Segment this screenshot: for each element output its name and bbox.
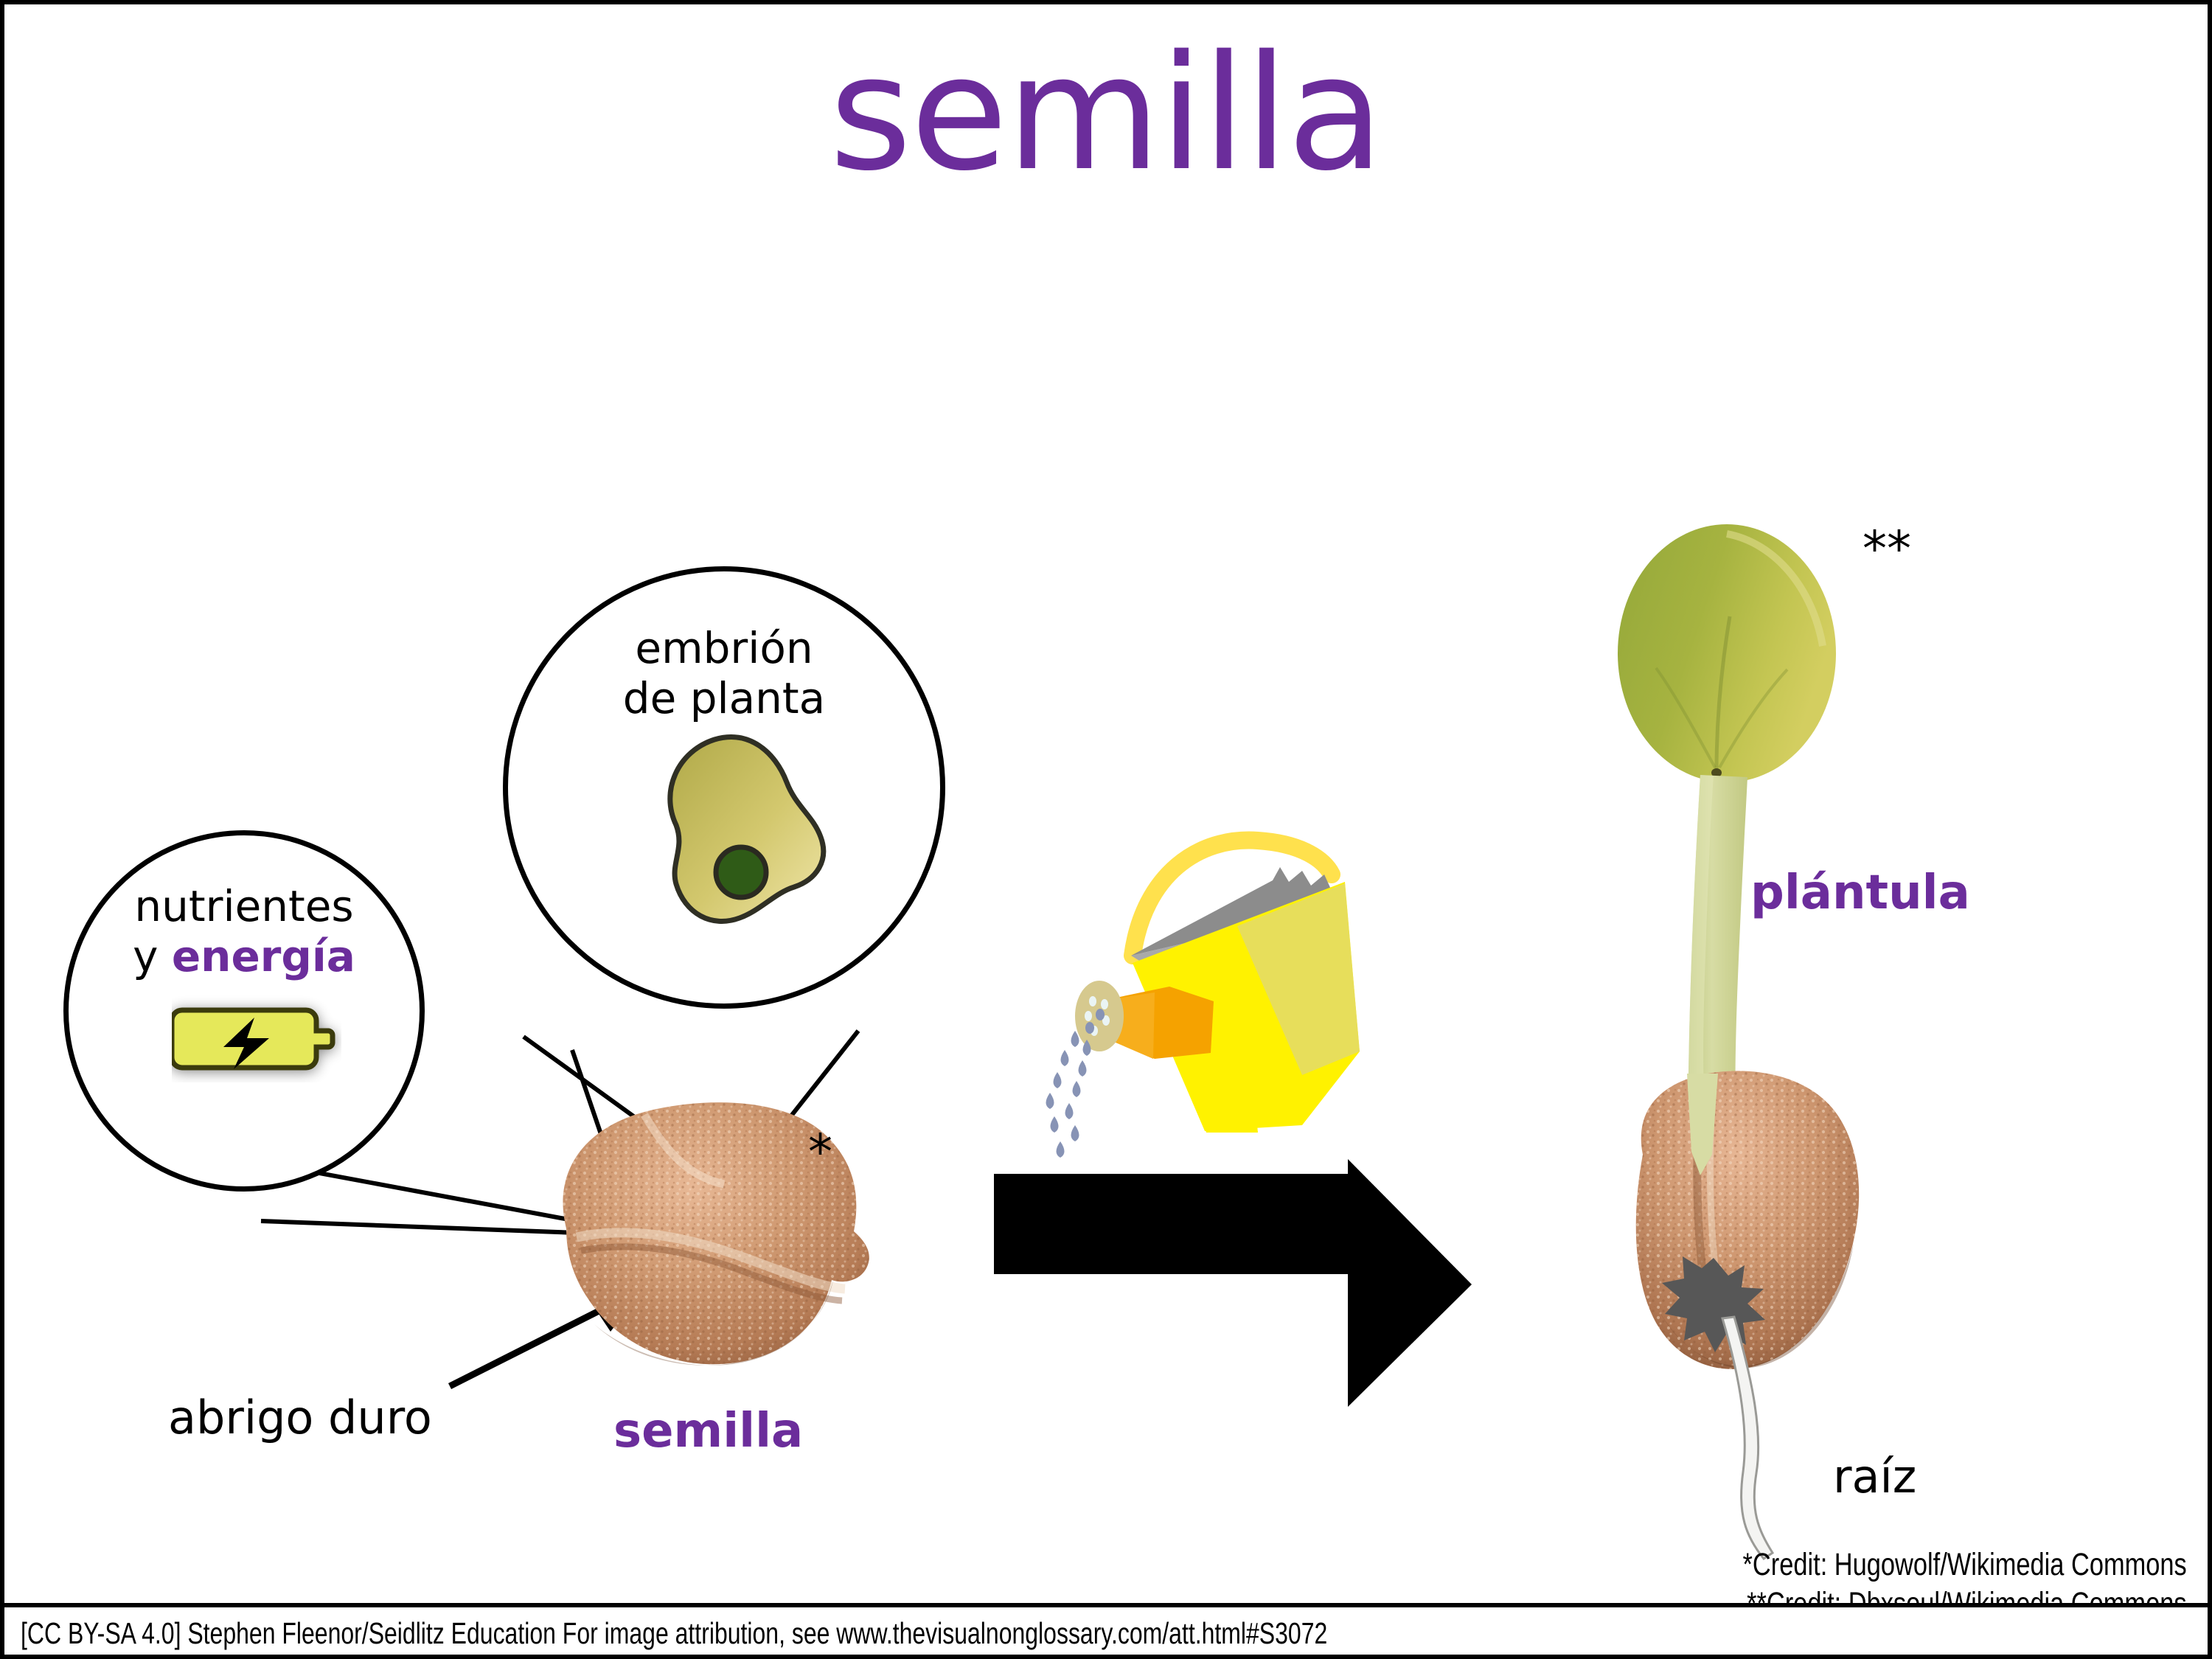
seed-marker-nutrients (602, 1208, 637, 1254)
leader-line-embrion-b (745, 1031, 858, 1174)
watering-can-icon (1046, 841, 1360, 1158)
right-arrow-icon (994, 1159, 1472, 1407)
germinating-seed-body (1636, 1071, 1859, 1368)
can-spout (1099, 987, 1214, 1059)
label-abrigo-duro: abrigo duro (168, 1391, 432, 1444)
battery-icon (172, 994, 341, 1082)
leader-line-embrion-c (572, 1050, 631, 1222)
callout-embrion: embrión de planta (503, 566, 945, 1009)
credit-line-1: *Credit: Hugowolf/Wikimedia Commons (1743, 1547, 2187, 1583)
marker-asterisk-seedling: ** (1863, 521, 1911, 577)
callout-nutrientes: nutrientes y energía (63, 830, 425, 1192)
label-semilla: semilla (613, 1404, 803, 1458)
root-emergence-burst (1662, 1256, 1765, 1352)
seedling-photo (1618, 524, 1859, 1559)
root (1722, 1317, 1773, 1559)
germinating-seed-texture (1636, 1071, 1859, 1368)
rose-head (1075, 981, 1124, 1051)
footer-bar: [CC BY-SA 4.0] Stephen Fleenor/Seidlitz … (4, 1603, 2208, 1655)
footer-attribution: [CC BY-SA 4.0] Stephen Fleenor/Seidlitz … (21, 1616, 1327, 1651)
callout-nutrientes-line2-plain: y (133, 931, 172, 981)
leader-line-embrion-a (524, 1037, 723, 1181)
water-droplets (1046, 1031, 1091, 1158)
page-title: semilla (4, 34, 2208, 192)
stem-into-seed (1687, 1074, 1718, 1175)
label-plantula: plántula (1750, 866, 1970, 920)
embryo-cell-icon (630, 728, 837, 942)
leader-line-nutrientes-b (261, 1221, 616, 1234)
callout-nutrientes-accent: energía (172, 931, 355, 981)
seedling-stem (1688, 775, 1747, 1181)
cotyledon (1618, 524, 1836, 782)
can-body (1133, 882, 1360, 1131)
marker-asterisk-seed: * (808, 1124, 832, 1180)
label-raiz: raíz (1833, 1450, 1916, 1503)
seed-marker-embryo (715, 1157, 751, 1203)
abrigo-duro-pointer (450, 1287, 644, 1386)
callout-nutrientes-line1: nutrientes (134, 881, 353, 931)
callout-embrion-line2: de planta (623, 673, 825, 723)
callout-embrion-line1: embrión (635, 623, 813, 673)
diagram-canvas: semilla (0, 0, 2212, 1659)
embryo-nucleus (716, 847, 766, 897)
